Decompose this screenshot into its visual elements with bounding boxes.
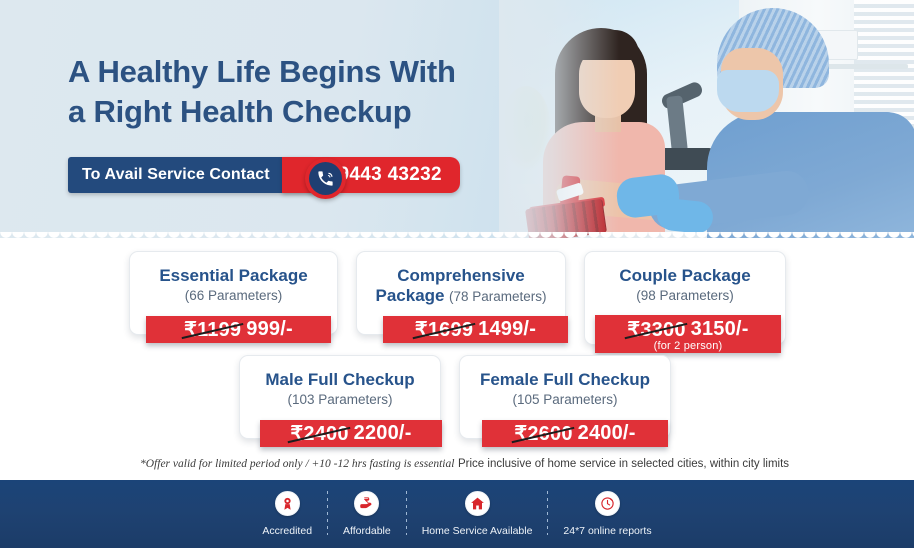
package-price: ₹2600 2400/- <box>482 420 668 447</box>
footer-feature-label: 24*7 online reports <box>563 525 651 537</box>
footer-feature-online-reports: 24*7 online reports <box>550 491 664 537</box>
page-title: A Healthy Life Begins With a Right Healt… <box>68 52 538 131</box>
package-card-couple[interactable]: Couple Package (98 Parameters) ₹3300 315… <box>584 251 786 345</box>
hero-photo <box>499 0 914 238</box>
footer-divider <box>547 491 548 535</box>
scalloped-divider <box>0 232 914 238</box>
award-ribbon-icon <box>275 491 300 516</box>
packages-row-top: Essential Package (66 Parameters) ₹1199 … <box>129 251 786 345</box>
new-price: 2200/- <box>354 422 412 445</box>
hand-rupee-icon <box>354 491 379 516</box>
package-title: Essential Package <box>159 266 307 286</box>
nurse-face-mask <box>717 70 779 112</box>
package-price: ₹3300 3150/- (for 2 person) <box>595 315 781 353</box>
footer-divider <box>327 491 328 535</box>
headline-line-1: A Healthy Life Begins With <box>68 54 456 89</box>
old-price: ₹1199 <box>184 317 241 342</box>
package-parameters: (78 Parameters) <box>449 289 547 304</box>
disclaimer-row: *Offer valid for limited period only / +… <box>0 458 914 480</box>
headline-line-2: a Right Health Checkup <box>68 92 538 132</box>
package-title: Male Full Checkup <box>265 370 414 390</box>
package-card-essential[interactable]: Essential Package (66 Parameters) ₹1199 … <box>129 251 338 335</box>
package-title: Couple Package <box>619 266 750 286</box>
footer-feature-accredited: Accredited <box>249 491 325 537</box>
footer-feature-home-service: Home Service Available <box>409 491 546 537</box>
packages-section: Essential Package (66 Parameters) ₹1199 … <box>0 238 914 462</box>
clock-report-icon <box>595 491 620 516</box>
package-title: Comprehensive Package (78 Parameters) <box>376 266 547 307</box>
package-price: ₹1699 1499/- <box>383 316 568 343</box>
old-price: ₹1699 <box>415 317 473 342</box>
microscope-base <box>659 148 713 170</box>
new-price: 1499/- <box>478 318 536 341</box>
contact-label: To Avail Service Contact <box>68 157 314 193</box>
package-parameters: (105 Parameters) <box>512 392 617 407</box>
package-parameters: (98 Parameters) <box>636 288 734 303</box>
packages-row-bottom: Male Full Checkup (103 Parameters) ₹2400… <box>239 355 671 439</box>
old-price: ₹3300 <box>627 317 685 342</box>
home-icon <box>465 491 490 516</box>
hero-text-block: A Healthy Life Begins With a Right Healt… <box>68 52 538 131</box>
footer-features: Accredited Affordable <box>249 491 664 537</box>
health-checkup-promo-banner: A Healthy Life Begins With a Right Healt… <box>0 0 914 548</box>
package-card-male-full-checkup[interactable]: Male Full Checkup (103 Parameters) ₹2400… <box>239 355 441 439</box>
footer-bar: Accredited Affordable <box>0 480 914 548</box>
package-price: ₹1199 999/- <box>146 316 331 343</box>
package-price: ₹2400 2200/- <box>260 420 442 447</box>
hero-section: A Healthy Life Begins With a Right Healt… <box>0 0 914 238</box>
package-parameters: (103 Parameters) <box>287 392 392 407</box>
footer-divider <box>406 491 407 535</box>
footer-feature-label: Home Service Available <box>422 525 533 537</box>
price-disclaimer: Price inclusive of home service in selec… <box>458 458 789 470</box>
footer-feature-label: Affordable <box>343 525 391 537</box>
old-price: ₹2400 <box>290 421 348 446</box>
new-price: 3150/- <box>691 318 749 341</box>
package-title: Female Full Checkup <box>480 370 650 390</box>
footer-feature-label: Accredited <box>262 525 312 537</box>
old-price: ₹2600 <box>514 421 572 446</box>
package-card-comprehensive[interactable]: Comprehensive Package (78 Parameters) ₹1… <box>356 251 566 335</box>
new-price: 2400/- <box>578 422 636 445</box>
footer-feature-affordable: Affordable <box>330 491 404 537</box>
phone-call-icon[interactable] <box>305 158 346 199</box>
new-price: 999/- <box>246 318 293 341</box>
package-card-female-full-checkup[interactable]: Female Full Checkup (105 Parameters) ₹26… <box>459 355 671 439</box>
offer-disclaimer: *Offer valid for limited period only / +… <box>140 458 454 470</box>
phone-icon-inner <box>309 162 342 195</box>
contact-bar[interactable]: To Avail Service Contact 99443 43232 <box>68 157 460 193</box>
package-parameters: (66 Parameters) <box>185 288 283 303</box>
package-title-line-1: Comprehensive <box>376 266 547 286</box>
package-title-line-2: Package <box>376 286 445 305</box>
